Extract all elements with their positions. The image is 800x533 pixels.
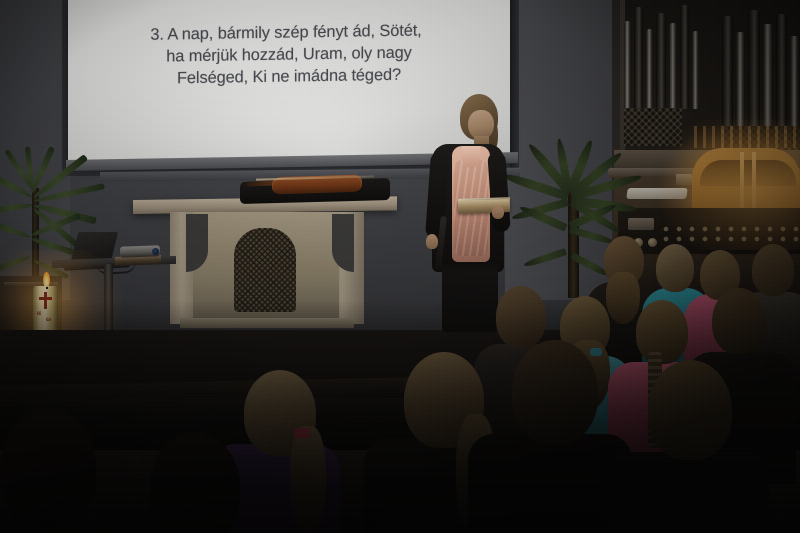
child-head (150, 432, 240, 533)
slide-text-block: 3. A nap, bármily szép fényt ád, Sötét, … (68, 19, 510, 91)
child-head (636, 300, 688, 364)
child-head (0, 408, 96, 528)
candle-flame (43, 272, 50, 287)
projector-lens (152, 248, 159, 255)
yucca-leaf (0, 218, 31, 239)
child-head (512, 340, 598, 444)
presenter-trousers (442, 262, 498, 332)
child-head (656, 244, 694, 292)
organ-small-pipes (694, 126, 800, 148)
child-hair (606, 272, 640, 324)
presenter-hand-right (492, 206, 504, 219)
child-head (496, 286, 546, 348)
child-torso (602, 452, 770, 533)
organ-stop-knobs (660, 224, 800, 246)
palm-frond (523, 248, 567, 268)
organ-pipe-group-left (624, 4, 699, 109)
presenter-hand-left (426, 234, 438, 249)
organ-small-box (676, 174, 692, 185)
child-head (648, 360, 732, 460)
child-head (712, 288, 766, 354)
yucca-leaf (0, 254, 31, 273)
child-hair-tie (590, 348, 602, 356)
yucca-leaf (0, 202, 32, 214)
organ-rack-slot (700, 160, 796, 186)
presenter-collar (462, 146, 480, 168)
organ-rack-post-left (740, 152, 744, 208)
child-ponytail (290, 426, 326, 533)
child-head (752, 244, 794, 296)
organ-rack-post-right (752, 152, 756, 208)
child-hair-tie (294, 428, 310, 438)
organ-pipe-group-right (722, 10, 800, 128)
projection-screen: 3. A nap, bármily szép fényt ád, Sötét, … (68, 0, 510, 168)
photo-scene: 3. A nap, bármily szép fényt ád, Sötét, … (0, 0, 800, 533)
